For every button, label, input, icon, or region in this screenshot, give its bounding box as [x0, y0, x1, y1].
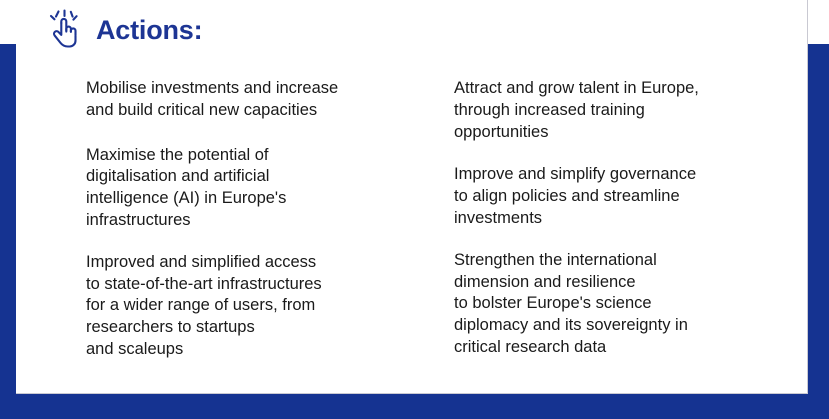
frame-accent-left — [0, 44, 16, 419]
actions-column-left: Mobilise investments and increase and bu… — [86, 78, 438, 361]
page-title: Actions: — [96, 17, 202, 44]
slide-root: Actions: Mobilise investments and increa… — [0, 0, 829, 419]
frame-accent-right — [808, 44, 829, 419]
frame-accent-bottom — [0, 394, 829, 419]
action-item: Mobilise investments and increase and bu… — [86, 78, 438, 122]
content-panel: Actions: Mobilise investments and increa… — [16, 0, 808, 394]
slide-header: Actions: — [44, 6, 202, 54]
action-item: Attract and grow talent in Europe, throu… — [454, 78, 806, 143]
actions-column-right: Attract and grow talent in Europe, throu… — [454, 78, 806, 361]
click-hand-icon — [44, 9, 82, 51]
action-item: Improve and simplify governance to align… — [454, 164, 806, 229]
action-item: Maximise the potential of digitalisation… — [86, 145, 438, 232]
action-item: Strengthen the international dimension a… — [454, 250, 806, 359]
action-item: Improved and simplified access to state-… — [86, 252, 438, 361]
actions-columns: Mobilise investments and increase and bu… — [86, 78, 806, 361]
